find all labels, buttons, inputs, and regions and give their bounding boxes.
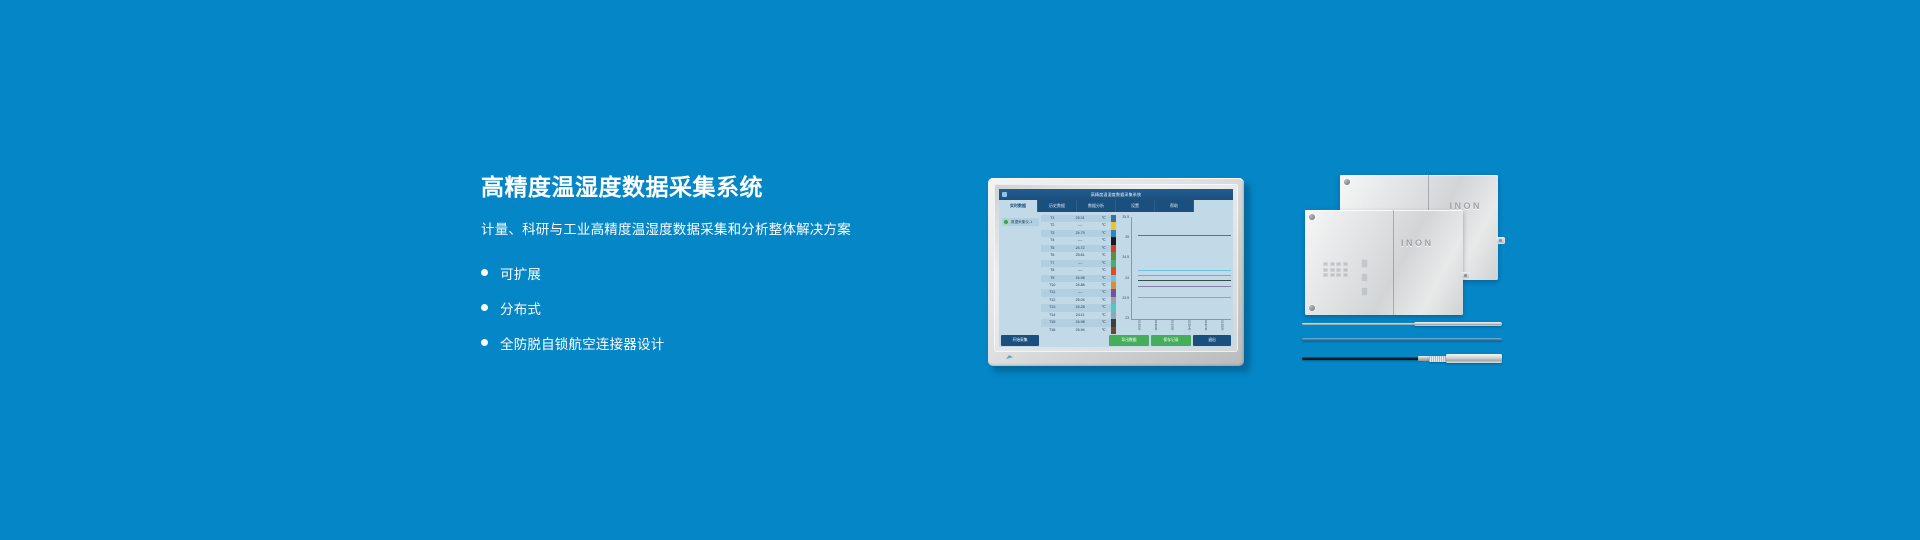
- tab-data-analysis[interactable]: 数据分析: [1077, 200, 1116, 212]
- channel-name-cell: T6: [1041, 252, 1064, 259]
- channel-value-cell: 25.94: [1064, 327, 1097, 334]
- bullet-dot-icon: [481, 339, 488, 346]
- connector-port-column: [1361, 259, 1368, 296]
- status-online-icon: [1003, 219, 1009, 225]
- channel-unit-cell: ℃: [1097, 327, 1111, 334]
- chart-series-line: [1138, 235, 1231, 236]
- list-item-label: 全防脱自锁航空连接器设计: [500, 333, 664, 353]
- channel-unit-cell: ℃: [1097, 304, 1111, 311]
- screw-icon: [1309, 305, 1315, 311]
- x-axis-tick: 10:29:20: [1221, 320, 1225, 334]
- black-cable-with-connector: [1302, 357, 1424, 360]
- table-row[interactable]: T7----℃: [1041, 260, 1111, 267]
- channel-name-cell: T14: [1041, 312, 1064, 319]
- channel-value-cell: 25.04: [1064, 297, 1097, 304]
- channel-name-cell: T5: [1041, 245, 1064, 252]
- list-item: 全防脱自锁航空连接器设计: [481, 328, 951, 357]
- chart-series-line: [1138, 270, 1231, 271]
- mounting-tab: [1496, 237, 1505, 244]
- probe-shaft: [1302, 323, 1422, 326]
- y-axis-tick: 23.5: [1122, 296, 1129, 300]
- channel-value-cell: 24.88: [1064, 282, 1097, 289]
- channel-name-cell: T15: [1041, 319, 1064, 326]
- channel-value-cell: 24.98: [1064, 275, 1097, 282]
- app-footer: 开始采集 导出数据 保存记录 退出: [999, 334, 1233, 347]
- channel-unit-cell: ℃: [1097, 260, 1111, 267]
- table-row[interactable]: T1625.94℃: [1041, 327, 1111, 334]
- channel-name-cell: T1: [1041, 215, 1064, 222]
- tab-realtime-data[interactable]: 实时数据: [999, 200, 1038, 212]
- device-tree-node[interactable]: 数据采集仪-1: [1002, 218, 1039, 226]
- channel-name-cell: T10: [1041, 282, 1064, 289]
- connector-knurl: [1429, 356, 1447, 362]
- channel-unit-cell: ℃: [1097, 289, 1111, 296]
- channel-unit-cell: ℃: [1097, 312, 1111, 319]
- table-row[interactable]: T1524.98℃: [1041, 319, 1111, 326]
- channel-name-cell: T9: [1041, 275, 1064, 282]
- channel-unit-cell: ℃: [1097, 215, 1111, 222]
- x-axis-tick: 10:25:40: [1187, 320, 1191, 334]
- channel-unit-cell: ℃: [1097, 222, 1111, 229]
- channel-value-cell: 24.11: [1064, 312, 1097, 319]
- channel-unit-cell: ℃: [1097, 267, 1111, 274]
- channel-value-cell: ----: [1064, 289, 1097, 296]
- channel-value-cell: 24.98: [1064, 319, 1097, 326]
- screw-icon: [1344, 179, 1350, 185]
- x-axis-tick: 10:27:30: [1204, 320, 1208, 334]
- monitor-bezel: 高精度温湿度数据采集系统 实时数据 历史数据 数据分析 设置 帮助 数据采集仪-…: [988, 178, 1244, 366]
- chart-series-line: [1138, 297, 1231, 298]
- list-item-label: 可扩展: [500, 263, 541, 283]
- page-subtitle: 计量、科研与工业高精度温湿度数据采集和分析整体解决方案: [481, 218, 951, 238]
- channel-table: T125.01℃T2----℃T324.79℃T4----℃T524.72℃T6…: [1041, 215, 1111, 334]
- device-tree-label: 数据采集仪-1: [1011, 220, 1032, 225]
- tab-settings[interactable]: 设置: [1116, 200, 1155, 212]
- table-row[interactable]: T1424.11℃: [1041, 312, 1111, 319]
- x-axis-tick: 10:20:10: [1137, 320, 1141, 334]
- device-tree-pane: 数据采集仪-1: [999, 215, 1041, 334]
- channel-name-cell: T3: [1041, 230, 1064, 237]
- tab-help[interactable]: 帮助: [1155, 200, 1194, 212]
- table-row[interactable]: T524.72℃: [1041, 245, 1111, 252]
- trend-chart: 25.52524.52423.523 10:20:1010:22:0010:23…: [1116, 215, 1233, 334]
- app-title: 高精度温湿度数据采集系统: [999, 189, 1233, 200]
- y-axis-tick: 25.5: [1122, 215, 1129, 219]
- feature-list: 可扩展 分布式 全防脱自锁航空连接器设计: [481, 258, 951, 357]
- exit-button[interactable]: 退出: [1193, 335, 1231, 346]
- channel-value-cell: 25.61: [1064, 252, 1097, 259]
- chart-plot-area: [1131, 217, 1231, 320]
- save-record-button[interactable]: 保存记录: [1151, 335, 1191, 346]
- list-item: 分布式: [481, 293, 951, 322]
- monitor-stand-icon: [1006, 353, 1014, 361]
- channel-unit-cell: ℃: [1097, 282, 1111, 289]
- chart-series-line: [1138, 286, 1231, 287]
- screw-icon: [1309, 214, 1315, 220]
- data-logger-module-front: INON: [1305, 210, 1463, 315]
- brand-logo: INON: [1401, 238, 1434, 248]
- chart-series-line: [1138, 275, 1231, 276]
- table-row[interactable]: T625.61℃: [1041, 252, 1111, 259]
- app-titlebar: 高精度温湿度数据采集系统: [999, 189, 1233, 200]
- x-axis-tick: 10:23:50: [1171, 320, 1175, 334]
- monitor-screen: 高精度温湿度数据采集系统 实时数据 历史数据 数据分析 设置 帮助 数据采集仪-…: [999, 189, 1233, 347]
- tab-history-data[interactable]: 历史数据: [1038, 200, 1077, 212]
- bullet-dot-icon: [481, 269, 488, 276]
- y-axis-tick: 23: [1125, 316, 1129, 320]
- table-row[interactable]: T1024.88℃: [1041, 282, 1111, 289]
- table-row[interactable]: T1324.28℃: [1041, 304, 1111, 311]
- channel-name-cell: T2: [1041, 222, 1064, 229]
- channel-name-cell: T16: [1041, 327, 1064, 334]
- channel-value-cell: 24.28: [1064, 304, 1097, 311]
- stainless-probe: [1414, 322, 1502, 326]
- table-row[interactable]: T125.01℃: [1041, 215, 1111, 222]
- channel-value-cell: ----: [1064, 260, 1097, 267]
- page-title: 高精度温湿度数据采集系统: [481, 175, 951, 200]
- hero-banner: 高精度温湿度数据采集系统 计量、科研与工业高精度温湿度数据采集和分析整体解决方案…: [0, 0, 1920, 540]
- table-row[interactable]: T1225.04℃: [1041, 297, 1111, 304]
- table-row[interactable]: T11----℃: [1041, 289, 1111, 296]
- channel-unit-cell: ℃: [1097, 319, 1111, 326]
- chart-x-axis: 10:20:1010:22:0010:23:5010:25:4010:27:30…: [1131, 320, 1231, 334]
- channel-value-cell: 24.79: [1064, 230, 1097, 237]
- channel-value-cell: 25.01: [1064, 215, 1097, 222]
- sensor-probes: [1302, 316, 1507, 376]
- monitor-device: 高精度温湿度数据采集系统 实时数据 历史数据 数据分析 设置 帮助 数据采集仪-…: [988, 178, 1250, 372]
- chart-series-line: [1138, 280, 1231, 281]
- channel-unit-cell: ℃: [1097, 252, 1111, 259]
- bullet-dot-icon: [481, 304, 488, 311]
- channel-name-cell: T7: [1041, 260, 1064, 267]
- connector-body: [1446, 354, 1502, 363]
- tab-bar-filler: [1194, 200, 1233, 212]
- channel-value-cell: ----: [1064, 267, 1097, 274]
- table-row[interactable]: T2----℃: [1041, 222, 1111, 229]
- y-axis-tick: 24: [1125, 276, 1129, 280]
- blue-sensor-cable: [1302, 338, 1502, 341]
- export-data-button[interactable]: 导出数据: [1109, 335, 1149, 346]
- mounting-tab: [1461, 272, 1470, 279]
- channel-name-cell: T11: [1041, 289, 1064, 296]
- channel-value-cell: ----: [1064, 222, 1097, 229]
- channel-name-cell: T13: [1041, 304, 1064, 311]
- channel-name-cell: T8: [1041, 267, 1064, 274]
- channel-name-cell: T12: [1041, 297, 1064, 304]
- chart-y-axis: 25.52524.52423.523: [1116, 215, 1130, 320]
- table-row[interactable]: T924.98℃: [1041, 275, 1111, 282]
- list-item: 可扩展: [481, 258, 951, 287]
- channel-value-cell: ----: [1064, 237, 1097, 244]
- copy-block: 高精度温湿度数据采集系统 计量、科研与工业高精度温湿度数据采集和分析整体解决方案…: [481, 175, 951, 363]
- terminal-block-grid: [1323, 262, 1348, 277]
- channel-table-body: T125.01℃T2----℃T324.79℃T4----℃T524.72℃T6…: [1041, 215, 1111, 334]
- channel-unit-cell: ℃: [1097, 275, 1111, 282]
- x-axis-tick: 10:22:00: [1154, 320, 1158, 334]
- channel-value-cell: 24.72: [1064, 245, 1097, 252]
- app-body: 数据采集仪-1 T125.01℃T2----℃T324.79℃T4----℃T5…: [999, 212, 1233, 334]
- channel-unit-cell: ℃: [1097, 297, 1111, 304]
- start-acquisition-button[interactable]: 开始采集: [1001, 335, 1039, 346]
- channel-unit-cell: ℃: [1097, 245, 1111, 252]
- channel-unit-cell: ℃: [1097, 230, 1111, 237]
- module-seam: [1393, 210, 1394, 315]
- app-tab-bar: 实时数据 历史数据 数据分析 设置 帮助: [999, 200, 1233, 212]
- channel-unit-cell: ℃: [1097, 237, 1111, 244]
- list-item-label: 分布式: [500, 298, 541, 318]
- channel-name-cell: T4: [1041, 237, 1064, 244]
- table-row[interactable]: T324.79℃: [1041, 230, 1111, 237]
- table-row[interactable]: T4----℃: [1041, 237, 1111, 244]
- y-axis-tick: 25: [1125, 235, 1129, 239]
- table-row[interactable]: T8----℃: [1041, 267, 1111, 274]
- y-axis-tick: 24.5: [1122, 255, 1129, 259]
